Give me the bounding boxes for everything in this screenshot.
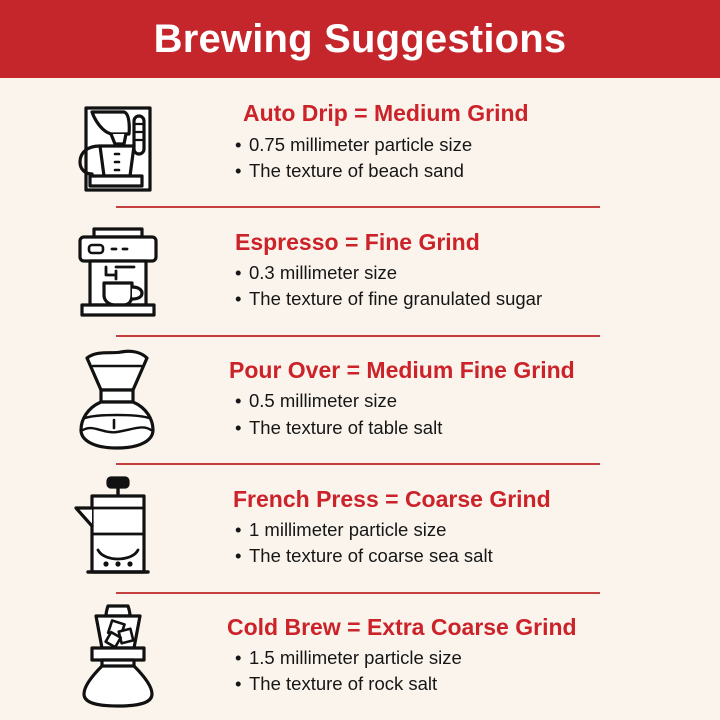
- bullet-item: 1.5 millimeter particle size: [235, 645, 706, 671]
- pour-over-chemex-icon: [73, 346, 163, 452]
- bullet-item: 0.75 millimeter particle size: [235, 132, 706, 158]
- section-heading: French Press = Coarse Grind: [233, 486, 706, 513]
- bullet-item: The texture of rock salt: [235, 671, 706, 697]
- section-heading: Cold Brew = Extra Coarse Grind: [227, 614, 706, 641]
- cold-brew-tower-icon: [72, 602, 164, 710]
- bullet-item: The texture of fine granulated sugar: [235, 286, 706, 312]
- infographic-page: Brewing Suggestions Auto Drip = Medi: [0, 0, 720, 720]
- section-bullets: 0.5 millimeter size The texture of table…: [235, 388, 706, 441]
- text-cell: Auto Drip = Medium Grind 0.75 millimeter…: [225, 100, 720, 184]
- brew-method-section-cold-brew: Cold Brew = Extra Coarse Grind 1.5 milli…: [0, 592, 720, 720]
- bullet-item: The texture of table salt: [235, 415, 706, 441]
- section-bullets: 1.5 millimeter particle size The texture…: [235, 645, 706, 698]
- section-heading: Espresso = Fine Grind: [235, 229, 706, 256]
- bullet-item: The texture of beach sand: [235, 158, 706, 184]
- section-heading: Pour Over = Medium Fine Grind: [229, 357, 706, 384]
- bullet-item: 0.5 millimeter size: [235, 388, 706, 414]
- section-bullets: 0.75 millimeter particle size The textur…: [235, 132, 706, 185]
- bullet-item: 0.3 millimeter size: [235, 260, 706, 286]
- brew-method-section-espresso: Espresso = Fine Grind 0.3 millimeter siz…: [0, 206, 720, 334]
- text-cell: French Press = Coarse Grind 1 millimeter…: [225, 486, 720, 570]
- header-banner: Brewing Suggestions: [0, 0, 720, 78]
- icon-cell: [0, 474, 225, 580]
- bullet-item: The texture of coarse sea salt: [235, 543, 706, 569]
- section-heading: Auto Drip = Medium Grind: [243, 100, 706, 127]
- text-cell: Pour Over = Medium Fine Grind 0.5 millim…: [225, 357, 720, 441]
- suggestions-list: Auto Drip = Medium Grind 0.75 millimeter…: [0, 78, 720, 720]
- brew-method-section-auto-drip: Auto Drip = Medium Grind 0.75 millimeter…: [0, 78, 720, 206]
- brew-method-section-pour-over: Pour Over = Medium Fine Grind 0.5 millim…: [0, 335, 720, 463]
- section-bullets: 1 millimeter particle size The texture o…: [235, 517, 706, 570]
- section-bullets: 0.3 millimeter size The texture of fine …: [235, 260, 706, 313]
- espresso-machine-icon: [68, 221, 168, 321]
- french-press-icon: [70, 474, 166, 580]
- brew-method-section-french-press: French Press = Coarse Grind 1 millimeter…: [0, 463, 720, 591]
- text-cell: Cold Brew = Extra Coarse Grind 1.5 milli…: [225, 614, 720, 698]
- text-cell: Espresso = Fine Grind 0.3 millimeter siz…: [225, 229, 720, 313]
- icon-cell: [0, 221, 225, 321]
- drip-coffee-maker-icon: [68, 90, 168, 194]
- icon-cell: [0, 90, 225, 194]
- icon-cell: [0, 346, 225, 452]
- icon-cell: [0, 602, 225, 710]
- bullet-item: 1 millimeter particle size: [235, 517, 706, 543]
- page-title: Brewing Suggestions: [154, 19, 567, 59]
